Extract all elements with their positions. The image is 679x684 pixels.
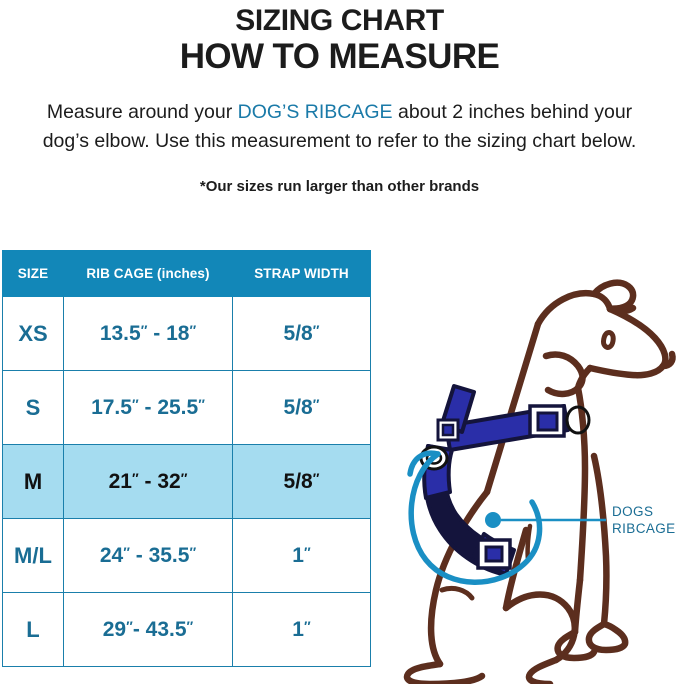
table-cell-rib: 17.5″ - 25.5″ bbox=[64, 371, 233, 445]
page-title-line-1: SIZING CHART bbox=[0, 4, 679, 38]
table-cell-strap: 1″ bbox=[233, 593, 371, 667]
inch-mark: ″ bbox=[132, 396, 139, 412]
table-row: S17.5″ - 25.5″5/8″ bbox=[3, 371, 371, 445]
callout-line-2: RIBCAGE bbox=[612, 520, 676, 537]
table-row: L29″- 43.5″1″ bbox=[3, 593, 371, 667]
header-block: SIZING CHART HOW TO MEASURE Measure arou… bbox=[0, 0, 679, 195]
table-body: XS13.5″ - 18″5/8″S17.5″ - 25.5″5/8″M21″ … bbox=[3, 297, 371, 667]
column-header-ribcage: RIB CAGE (inches) bbox=[64, 251, 233, 297]
table-cell-size: M bbox=[3, 445, 64, 519]
inch-mark: ″ bbox=[304, 544, 311, 560]
column-header-size: SIZE bbox=[3, 251, 64, 297]
page-title-line-2: HOW TO MEASURE bbox=[0, 38, 679, 76]
inch-mark: ″ bbox=[189, 544, 196, 560]
table-cell-rib: 24″ - 35.5″ bbox=[64, 519, 233, 593]
sizing-table: SIZE RIB CAGE (inches) STRAP WIDTH XS13.… bbox=[2, 250, 371, 667]
dog-harness bbox=[421, 386, 589, 574]
inch-mark: ″ bbox=[313, 470, 320, 486]
table-row: XS13.5″ - 18″5/8″ bbox=[3, 297, 371, 371]
inch-mark: ″ bbox=[313, 396, 320, 412]
callout-line-1: DOGS bbox=[612, 503, 676, 520]
table-cell-strap: 5/8″ bbox=[233, 297, 371, 371]
dog-illustration bbox=[378, 268, 679, 684]
table-row: M21″ - 32″5/8″ bbox=[3, 445, 371, 519]
column-header-strap-width: STRAP WIDTH bbox=[233, 251, 371, 297]
table-cell-rib: 21″ - 32″ bbox=[64, 445, 233, 519]
inch-mark: ″ bbox=[304, 618, 311, 634]
table-header-row: SIZE RIB CAGE (inches) STRAP WIDTH bbox=[3, 251, 371, 297]
table-row: M/L24″ - 35.5″1″ bbox=[3, 519, 371, 593]
table-cell-size: XS bbox=[3, 297, 64, 371]
table-cell-size: M/L bbox=[3, 519, 64, 593]
inch-mark: ″ bbox=[313, 322, 320, 338]
disclaimer-note: *Our sizes run larger than other brands bbox=[0, 178, 679, 195]
inch-mark: ″ bbox=[123, 544, 130, 560]
table-cell-strap: 1″ bbox=[233, 519, 371, 593]
table-cell-size: L bbox=[3, 593, 64, 667]
inch-mark: ″ bbox=[141, 322, 148, 338]
table-cell-rib: 29″- 43.5″ bbox=[64, 593, 233, 667]
table-cell-size: S bbox=[3, 371, 64, 445]
inch-mark: ″ bbox=[181, 470, 188, 486]
inch-mark: ″ bbox=[132, 470, 139, 486]
table-header: SIZE RIB CAGE (inches) STRAP WIDTH bbox=[3, 251, 371, 297]
inch-mark: ″ bbox=[187, 618, 194, 634]
inch-mark: ″ bbox=[189, 322, 196, 338]
intro-text-before: Measure around your bbox=[47, 101, 238, 123]
intro-emphasis-ribcage: DOG’S RIBCAGE bbox=[238, 101, 393, 123]
table-cell-rib: 13.5″ - 18″ bbox=[64, 297, 233, 371]
intro-paragraph: Measure around your DOG’S RIBCAGE about … bbox=[0, 98, 679, 156]
table-cell-strap: 5/8″ bbox=[233, 445, 371, 519]
ribcage-callout-label: DOGS RIBCAGE bbox=[612, 503, 676, 537]
inch-mark: ″ bbox=[126, 618, 133, 634]
callout-dot bbox=[485, 512, 501, 528]
inch-mark: ″ bbox=[198, 396, 205, 412]
table-cell-strap: 5/8″ bbox=[233, 371, 371, 445]
